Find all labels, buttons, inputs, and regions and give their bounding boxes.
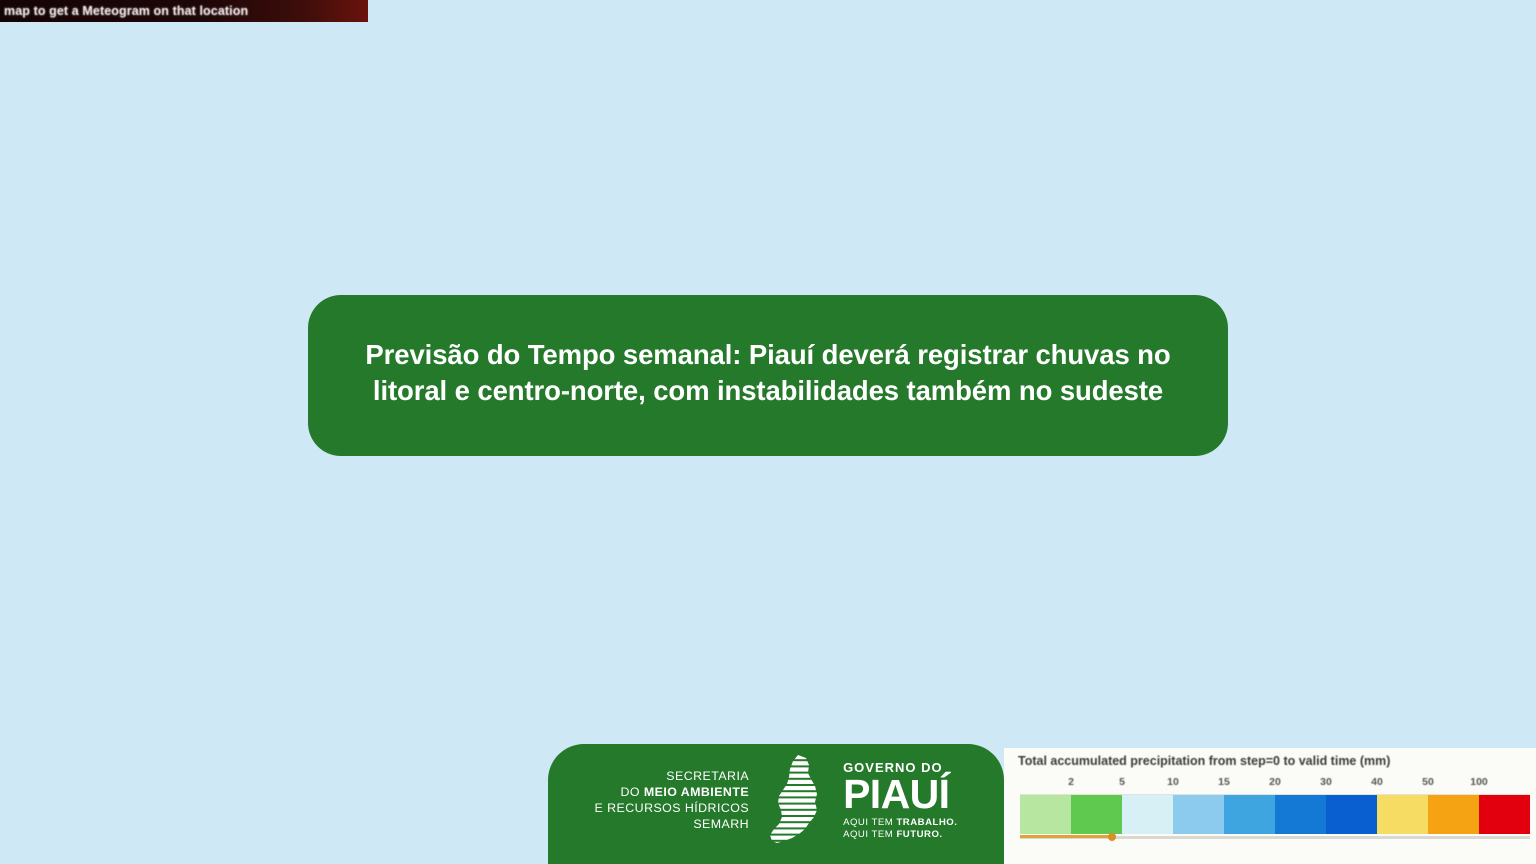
colorbar-swatch (1479, 795, 1530, 834)
semarh-line-2-prefix: DO (620, 785, 643, 799)
colorbar-tick: 5 (1119, 776, 1125, 788)
semarh-line-2: DO MEIO AMBIENTE (595, 785, 750, 801)
colorbar-swatch (1377, 795, 1428, 834)
semarh-line-4: SEMARH (595, 817, 750, 833)
colorbar-tick: 100 (1470, 776, 1488, 788)
colorbar-swatch (1071, 795, 1122, 834)
colorbar-swatch (1020, 795, 1071, 834)
colorbar-swatch (1326, 795, 1377, 834)
colorbar-tick: 30 (1320, 776, 1332, 788)
governo-logo-text: GOVERNO DO PIAUÍ AQUI TEM TRABALHO. AQUI… (843, 761, 957, 842)
colorbar-tick: 15 (1218, 776, 1230, 788)
slogan-1-bold: TRABALHO. (896, 817, 957, 828)
colorbar-swatches (1020, 794, 1530, 834)
slogan-1-prefix: AQUI TEM (843, 817, 896, 828)
slogan-2-bold: FUTURO. (896, 829, 942, 840)
semarh-line-3: E RECURSOS HÍDRICOS (595, 801, 750, 817)
governo-slogan-line-1: AQUI TEM TRABALHO. (843, 817, 957, 829)
piaui-state-shape-icon (765, 755, 827, 847)
semarh-logo-text: SECRETARIA DO MEIO AMBIENTE E RECURSOS H… (595, 769, 750, 833)
governo-slogan: AQUI TEM TRABALHO. AQUI TEM FUTURO. (843, 817, 957, 842)
colorbar-tick: 2 (1068, 776, 1074, 788)
colorbar-swatch (1173, 795, 1224, 834)
colorbar-swatch (1428, 795, 1479, 834)
governo-slogan-line-2: AQUI TEM FUTURO. (843, 829, 957, 841)
colorbar-baseline (1020, 836, 1530, 839)
headline-title: Previsão do Tempo semanal: Piauí deverá … (342, 337, 1194, 409)
governo-state-label: PIAUÍ (843, 775, 957, 814)
brand-panel: SECRETARIA DO MEIO AMBIENTE E RECURSOS H… (548, 744, 1004, 864)
semarh-line-2-bold: MEIO AMBIENTE (644, 785, 749, 799)
colorbar-tick: 40 (1371, 776, 1383, 788)
weather-forecast-graphic: map to get a Meteogram on that location … (0, 0, 1536, 864)
slogan-2-prefix: AQUI TEM (843, 829, 896, 840)
colorbar-legend-panel: Total accumulated precipitation from ste… (1004, 748, 1536, 864)
colorbar-tick: 20 (1269, 776, 1281, 788)
meteogram-tooltip-bar: map to get a Meteogram on that location (0, 0, 368, 22)
meteogram-tooltip-text: map to get a Meteogram on that location (4, 4, 248, 18)
colorbar-swatch (1224, 795, 1275, 834)
colorbar-tick-labels: 25101520304050100 (1020, 776, 1530, 790)
colorbar-tick: 10 (1167, 776, 1179, 788)
semarh-line-1: SECRETARIA (595, 769, 750, 785)
colorbar-title: Total accumulated precipitation from ste… (1018, 754, 1390, 768)
colorbar-tick: 50 (1422, 776, 1434, 788)
colorbar-swatch (1122, 795, 1173, 834)
colorbar-marker-dot (1108, 833, 1116, 841)
colorbar-swatch (1275, 795, 1326, 834)
headline-card: Previsão do Tempo semanal: Piauí deverá … (308, 295, 1228, 456)
